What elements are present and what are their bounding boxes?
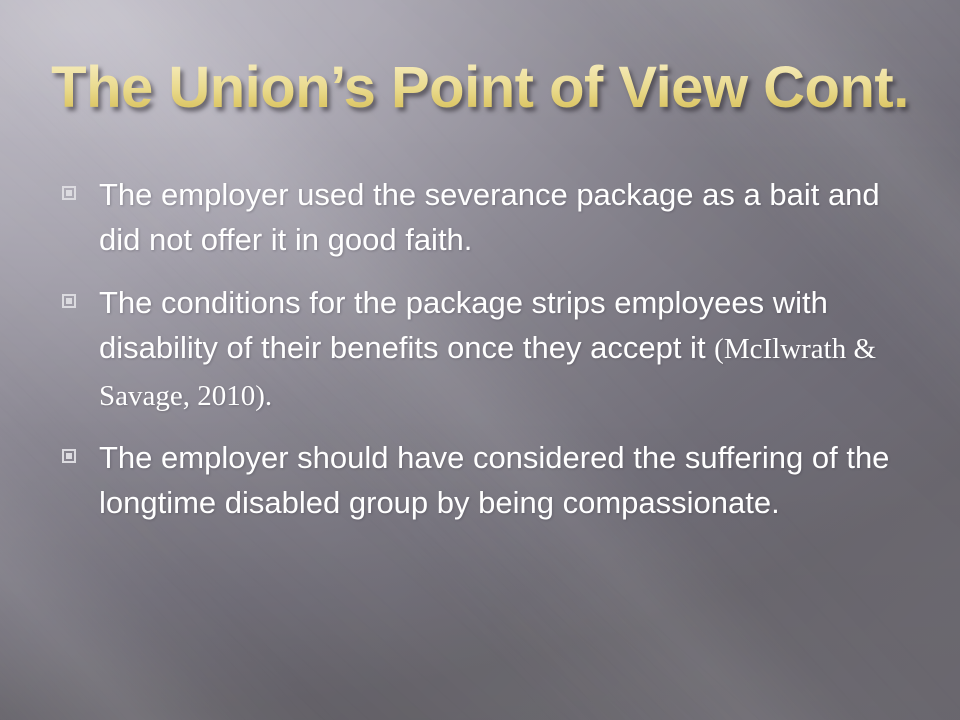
slide-body-content: The employer used the severance package …: [62, 172, 918, 527]
bullet-text: The employer should have considered the …: [99, 435, 918, 527]
bullet-text: The employer used the severance package …: [99, 172, 918, 264]
list-item: The employer should have considered the …: [62, 435, 918, 527]
list-item: The conditions for the package strips em…: [62, 280, 918, 419]
bullet-text-main: The employer should have considered the …: [99, 440, 889, 520]
bullet-text-main: The employer used the severance package …: [99, 177, 880, 257]
list-item: The employer used the severance package …: [62, 172, 918, 264]
page-title: The Union’s Point of View Cont.: [51, 56, 909, 120]
bullet-square-icon: [62, 186, 76, 200]
bullet-square-icon: [62, 449, 76, 463]
bullet-text: The conditions for the package strips em…: [99, 280, 918, 419]
slide-title-area: The Union’s Point of View Cont.: [0, 56, 960, 120]
bullet-square-icon: [62, 294, 76, 308]
presentation-slide: The Union’s Point of View Cont. The empl…: [0, 0, 960, 720]
